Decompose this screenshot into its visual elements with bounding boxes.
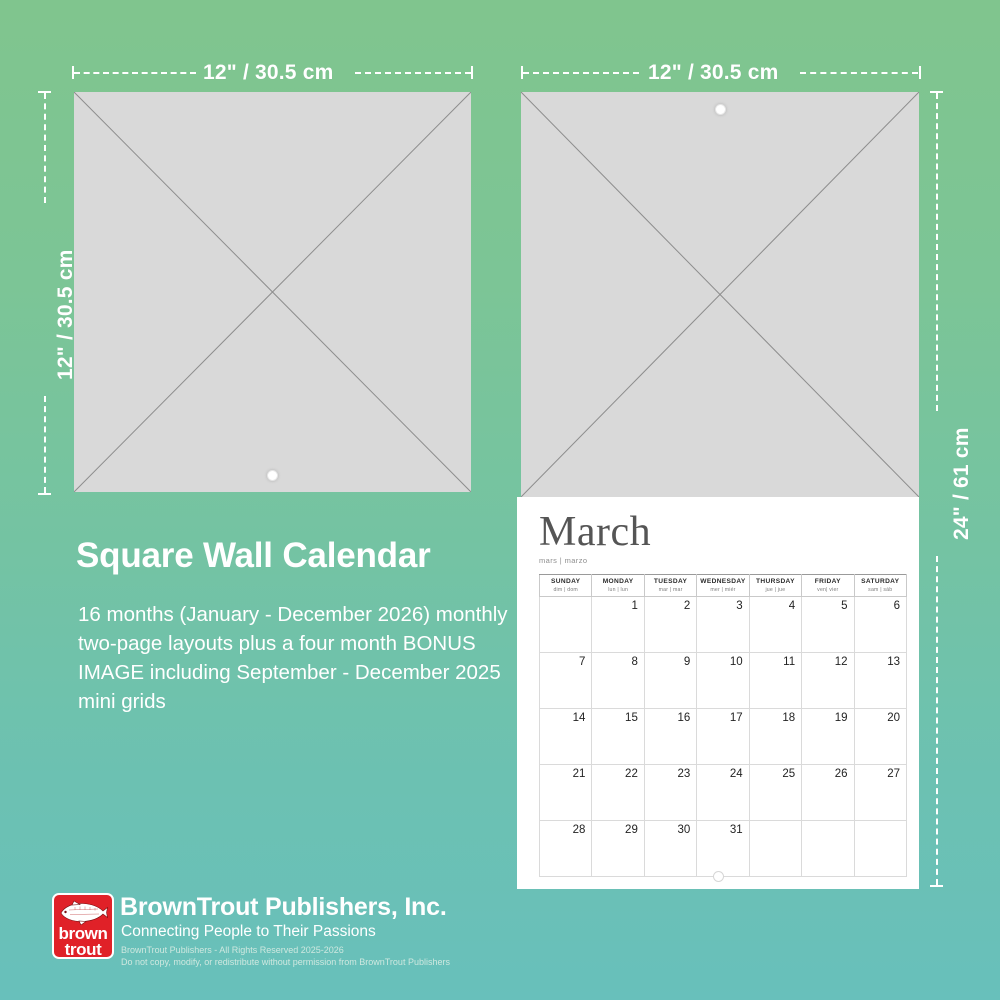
calendar-week-row: 21222324252627 [540,764,907,820]
weekday-translation: mer | miér [697,587,748,594]
weekday-name: SUNDAY [551,578,580,585]
calendar-week-row: 123456 [540,596,907,652]
calendar-page: March mars | marzo SUNDAY dim | dom MOND… [517,497,919,889]
logo-text-trout: trout [54,941,112,958]
calendar-day-cell: 16 [644,708,696,764]
right-side-rule-dash-a [936,93,938,411]
calendar-day-cell: 17 [697,708,749,764]
right-side-rule-cap-bottom [930,885,943,887]
calendar-day-cell: 9 [644,652,696,708]
right-top-rule-dash-b [800,72,918,74]
right-top-rule-dash-a [523,72,639,74]
left-side-rule-dash-a [44,93,46,203]
calendar-day-cell: 10 [697,652,749,708]
weekday-name: MONDAY [603,578,634,585]
product-spec-canvas: 12" / 30.5 cm 12" / 30.5 cm 12" / 30.5 c… [0,0,1000,1000]
calendar-day-cell: 7 [540,652,592,708]
calendar-day-cell: 23 [644,764,696,820]
browntrout-logo: brown trout [52,893,114,959]
right-top-rule-cap-end [919,66,921,79]
calendar-day-cell: 20 [854,708,906,764]
weekday-header-saturday: SATURDAY sam | sáb [854,575,906,597]
calendar-empty-cell [854,820,906,876]
calendar-day-cell: 24 [697,764,749,820]
calendar-grid: SUNDAY dim | dom MONDAY lun | lun TUESDA… [539,574,907,877]
company-tagline: Connecting People to Their Passions [121,923,376,941]
right-panel-hole-punch [715,104,726,115]
weekday-name: SATURDAY [861,578,899,585]
calendar-content: March mars | marzo SUNDAY dim | dom MOND… [539,511,907,877]
calendar-day-cell: 27 [854,764,906,820]
weekday-translation: dim | dom [540,587,591,594]
weekday-header-thursday: THURSDAY jue | jue [749,575,801,597]
calendar-month-title: March [539,511,907,553]
calendar-day-cell: 6 [854,596,906,652]
right-panel-width-label: 12" / 30.5 cm [648,61,778,85]
calendar-week-row: 28293031 [540,820,907,876]
calendar-day-cell: 8 [592,652,644,708]
weekday-translation: jue | jue [750,587,801,594]
calendar-day-cell: 14 [540,708,592,764]
weekday-name: THURSDAY [756,578,795,585]
calendar-day-cell: 19 [802,708,854,764]
left-panel-width-label: 12" / 30.5 cm [203,61,333,85]
calendar-day-cell: 12 [802,652,854,708]
weekday-name: TUESDAY [654,578,687,585]
calendar-week-row: 78910111213 [540,652,907,708]
product-headline: Square Wall Calendar [76,536,431,576]
weekday-header-monday: MONDAY lun | lun [592,575,644,597]
calendar-day-cell: 13 [854,652,906,708]
left-top-rule-cap-end [471,66,473,79]
calendar-month-subtitle: mars | marzo [539,556,907,565]
copyright-line-2: Do not copy, modify, or redistribute wit… [121,956,450,968]
calendar-day-cell: 26 [802,764,854,820]
weekday-header-sunday: SUNDAY dim | dom [540,575,592,597]
product-description: 16 months (January - December 2026) mont… [78,600,518,716]
weekday-translation: lun | lun [592,587,643,594]
calendar-day-cell: 31 [697,820,749,876]
weekday-translation: mar | mar [645,587,696,594]
right-image-panel [521,92,919,497]
calendar-day-cell: 29 [592,820,644,876]
calendar-day-cell: 15 [592,708,644,764]
right-panel-diagonals [521,92,919,497]
calendar-day-cell: 28 [540,820,592,876]
calendar-day-cell: 11 [749,652,801,708]
calendar-empty-cell [802,820,854,876]
left-top-rule-dash-b [355,72,471,74]
calendar-day-cell: 4 [749,596,801,652]
calendar-day-cell: 22 [592,764,644,820]
calendar-day-cell: 2 [644,596,696,652]
calendar-day-cell: 18 [749,708,801,764]
calendar-day-cell: 25 [749,764,801,820]
calendar-day-cell: 5 [802,596,854,652]
calendar-empty-cell [540,596,592,652]
calendar-empty-cell [749,820,801,876]
copyright-notice: BrownTrout Publishers - All Rights Reser… [121,944,450,968]
weekday-header-tuesday: TUESDAY mar | mar [644,575,696,597]
calendar-weekday-header-row: SUNDAY dim | dom MONDAY lun | lun TUESDA… [540,575,907,597]
company-name: BrownTrout Publishers, Inc. [120,893,447,922]
calendar-body: 1234567891011121314151617181920212223242… [540,596,907,876]
calendar-page-hole-punch [713,871,724,882]
right-side-rule-dash-b [936,556,938,885]
calendar-day-cell: 30 [644,820,696,876]
weekday-header-friday: FRIDAY ven| vier [802,575,854,597]
weekday-name: FRIDAY [815,578,841,585]
left-panel-diagonals [74,92,471,492]
calendar-week-row: 14151617181920 [540,708,907,764]
calendar-day-cell: 1 [592,596,644,652]
left-panel-hole-punch [267,470,278,481]
weekday-translation: sam | sáb [855,587,906,594]
calendar-day-cell: 21 [540,764,592,820]
calendar-day-cell: 3 [697,596,749,652]
weekday-header-wednesday: WEDNESDAY mer | miér [697,575,749,597]
weekday-name: WEDNESDAY [700,578,745,585]
left-top-rule-dash-a [74,72,196,74]
weekday-translation: ven| vier [802,587,853,594]
left-side-rule-cap-bottom [38,493,51,495]
left-image-panel [74,92,471,492]
left-side-rule-dash-b [44,396,46,493]
total-height-label: 24" / 61 cm [950,427,974,540]
trout-fish-icon [57,899,109,925]
copyright-line-1: BrownTrout Publishers - All Rights Reser… [121,944,450,956]
